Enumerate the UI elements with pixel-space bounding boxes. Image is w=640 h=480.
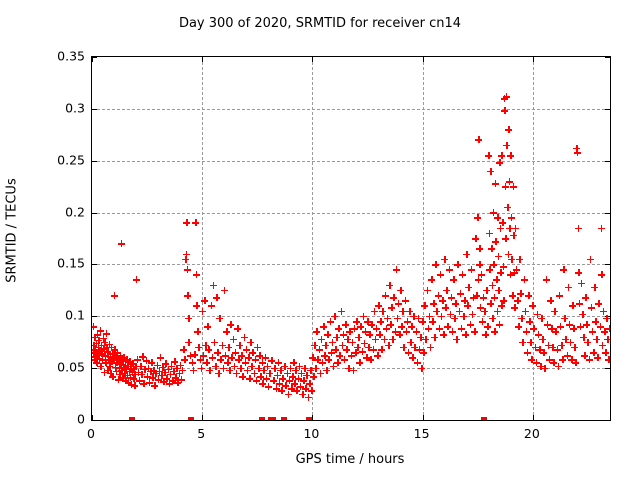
data-point <box>491 328 498 335</box>
data-point <box>487 300 494 307</box>
data-point <box>452 300 459 307</box>
data-point <box>228 354 235 361</box>
data-point <box>362 328 369 335</box>
data-point <box>314 356 321 363</box>
data-point <box>130 375 137 382</box>
data-point <box>268 357 275 364</box>
data-point <box>475 276 482 283</box>
data-point <box>193 271 200 278</box>
x-axis-tick <box>312 57 313 62</box>
data-point <box>388 304 395 311</box>
data-point <box>239 373 246 380</box>
data-point <box>92 349 97 356</box>
data-point <box>605 356 610 363</box>
data-point <box>183 219 190 226</box>
data-point <box>428 276 435 283</box>
x-axis-label: GPS time / hours <box>91 452 609 467</box>
data-point <box>399 308 406 315</box>
data-point <box>96 347 103 354</box>
data-point <box>163 375 170 382</box>
data-point <box>550 359 557 366</box>
x-axis-tick <box>92 57 93 62</box>
data-point <box>544 321 551 328</box>
x-axis-tick <box>533 57 534 62</box>
data-point <box>558 342 565 349</box>
data-point <box>414 359 421 366</box>
data-point <box>465 284 472 291</box>
gridline-vertical <box>312 57 313 420</box>
data-point <box>278 387 285 394</box>
data-point <box>576 300 583 307</box>
data-point <box>232 349 239 356</box>
data-point <box>456 308 463 315</box>
data-point <box>118 240 125 247</box>
data-point <box>392 328 399 335</box>
data-point <box>265 383 272 390</box>
data-point <box>405 349 412 356</box>
data-point <box>349 339 356 346</box>
data-point <box>485 152 492 159</box>
data-point <box>134 356 141 363</box>
data-point <box>184 266 191 273</box>
data-point <box>575 225 582 232</box>
data-point-zero <box>306 417 312 420</box>
data-point <box>249 349 256 356</box>
y-axis-tick <box>605 316 610 317</box>
data-point <box>492 238 499 245</box>
data-point <box>500 297 507 304</box>
y-axis-tick-label: 0.1 <box>39 308 85 323</box>
data-point <box>406 308 413 315</box>
data-point <box>583 321 590 328</box>
y-axis-tick-label: 0.05 <box>39 360 85 375</box>
data-point <box>582 294 589 301</box>
data-point <box>486 230 493 237</box>
data-point <box>487 168 494 175</box>
data-point <box>446 266 453 273</box>
data-point <box>256 352 263 359</box>
data-point <box>484 323 491 330</box>
data-point <box>546 356 553 363</box>
data-point <box>194 328 201 335</box>
x-axis-tick-labels: 05101520 <box>91 426 609 446</box>
data-point <box>259 380 266 387</box>
data-point <box>598 271 605 278</box>
y-axis-tick <box>605 213 610 214</box>
data-point <box>210 282 217 289</box>
data-point <box>128 381 135 388</box>
data-point <box>599 342 606 349</box>
data-point <box>136 377 143 384</box>
data-point <box>209 354 216 361</box>
y-axis-tick <box>605 368 610 369</box>
data-point <box>431 334 438 341</box>
data-point <box>288 385 295 392</box>
data-point <box>348 352 355 359</box>
y-axis-tick-label: 0.25 <box>39 152 85 167</box>
data-point <box>274 372 281 379</box>
x-axis-tick-label: 10 <box>289 426 333 441</box>
data-point <box>470 294 477 301</box>
data-point <box>494 214 501 221</box>
y-axis-tick <box>92 316 97 317</box>
data-point <box>502 235 509 242</box>
data-point <box>510 183 517 190</box>
data-point <box>143 357 150 364</box>
data-point <box>112 364 119 371</box>
data-point <box>341 356 348 363</box>
data-point <box>234 325 241 332</box>
data-point <box>597 323 604 330</box>
data-point <box>523 328 530 335</box>
data-point <box>291 380 298 387</box>
data-point <box>559 356 566 363</box>
data-point <box>254 344 261 351</box>
data-point <box>511 304 518 311</box>
data-point <box>149 374 156 381</box>
data-point <box>509 292 516 299</box>
data-point <box>396 331 403 338</box>
data-point <box>299 391 306 398</box>
data-point <box>325 356 332 363</box>
data-point <box>586 356 593 363</box>
gridline-vertical <box>533 57 534 420</box>
x-axis-tick <box>312 415 313 420</box>
data-point <box>373 325 380 332</box>
data-point <box>180 346 187 353</box>
data-point <box>338 308 345 315</box>
data-point <box>571 344 578 351</box>
data-point <box>554 346 561 353</box>
data-point <box>505 126 512 133</box>
data-point <box>496 321 503 328</box>
data-point <box>512 225 519 232</box>
data-point <box>305 394 312 401</box>
data-point <box>126 358 133 365</box>
data-point <box>588 304 595 311</box>
data-point <box>587 256 594 263</box>
data-point <box>155 376 162 383</box>
data-point <box>92 342 97 349</box>
data-point <box>510 232 517 239</box>
data-point <box>444 323 451 330</box>
data-point <box>318 336 325 343</box>
data-point <box>461 297 468 304</box>
data-point-zero <box>481 417 487 420</box>
data-point <box>112 354 119 361</box>
data-point <box>569 302 576 309</box>
data-point <box>279 375 286 382</box>
data-point <box>101 339 108 346</box>
data-point <box>100 345 107 352</box>
data-point <box>535 331 542 338</box>
data-point <box>238 352 245 359</box>
data-point <box>594 354 601 361</box>
data-point <box>130 366 137 373</box>
data-point <box>353 318 360 325</box>
data-point <box>166 380 173 387</box>
data-point <box>290 359 297 366</box>
data-point <box>108 358 115 365</box>
data-point <box>125 379 132 386</box>
plot-area <box>91 56 611 421</box>
data-point <box>425 325 432 332</box>
data-point <box>473 292 480 299</box>
data-point <box>575 269 582 276</box>
data-point <box>577 323 584 330</box>
data-point <box>344 336 351 343</box>
data-point <box>481 308 488 315</box>
data-point <box>107 370 114 377</box>
data-point <box>570 325 577 332</box>
data-point <box>376 331 383 338</box>
data-point <box>282 382 289 389</box>
data-point <box>377 318 384 325</box>
data-point <box>424 287 431 294</box>
data-point <box>591 284 598 291</box>
data-point <box>449 328 456 335</box>
data-point <box>528 356 535 363</box>
y-axis-tick-label: 0.3 <box>39 100 85 115</box>
data-point <box>320 323 327 330</box>
data-point <box>266 370 273 377</box>
data-point <box>185 339 192 346</box>
data-point <box>124 372 131 379</box>
data-point <box>499 219 506 226</box>
data-point <box>339 342 346 349</box>
data-point <box>356 359 363 366</box>
data-point <box>453 336 460 343</box>
data-point <box>357 323 364 330</box>
data-point <box>187 352 194 359</box>
data-point <box>433 308 440 315</box>
data-point <box>494 308 501 315</box>
data-point <box>116 371 123 378</box>
data-point <box>467 321 474 328</box>
data-point <box>355 334 362 341</box>
y-axis-tick-label: 0.2 <box>39 204 85 219</box>
data-point <box>573 145 580 152</box>
data-point <box>141 366 148 373</box>
data-point <box>92 323 97 330</box>
data-point <box>477 304 484 311</box>
data-point <box>385 342 392 349</box>
data-point <box>482 331 489 338</box>
data-point <box>200 352 207 359</box>
data-point <box>167 371 174 378</box>
data-point <box>564 352 571 359</box>
data-point <box>604 336 610 343</box>
data-point <box>138 371 145 378</box>
x-axis-tick-label: 0 <box>69 426 113 441</box>
data-point <box>386 282 393 289</box>
data-point <box>511 269 518 276</box>
data-point <box>135 369 142 376</box>
data-point <box>342 321 349 328</box>
data-point <box>504 204 511 211</box>
data-point <box>505 251 512 258</box>
data-point <box>193 302 200 309</box>
data-point <box>519 339 526 346</box>
data-point <box>172 374 179 381</box>
data-point <box>174 379 181 386</box>
data-point <box>459 271 466 278</box>
data-point <box>297 383 304 390</box>
data-point <box>352 349 359 356</box>
data-point <box>378 346 385 353</box>
data-point <box>472 235 479 242</box>
data-point <box>506 225 513 232</box>
data-point <box>522 308 529 315</box>
data-point <box>160 378 167 385</box>
data-point <box>120 354 127 361</box>
data-point <box>111 346 118 353</box>
data-point <box>335 325 342 332</box>
data-point <box>251 370 258 377</box>
data-point <box>359 348 366 355</box>
data-point <box>286 377 293 384</box>
data-point <box>516 256 523 263</box>
data-point <box>440 331 447 338</box>
data-point <box>262 354 269 361</box>
data-point <box>317 370 324 377</box>
data-point <box>230 336 237 343</box>
data-point <box>103 344 110 351</box>
data-point <box>580 334 587 341</box>
data-point <box>319 359 326 366</box>
data-point <box>389 336 396 343</box>
y-axis-tick <box>92 264 97 265</box>
data-point <box>521 276 528 283</box>
data-point <box>497 269 504 276</box>
data-point <box>293 387 300 394</box>
x-axis-tick-label: 5 <box>179 426 223 441</box>
data-point <box>503 142 510 149</box>
data-point <box>435 292 442 299</box>
data-point <box>192 219 199 226</box>
data-point <box>606 325 610 332</box>
data-point <box>151 382 158 389</box>
data-point <box>182 256 189 263</box>
data-point <box>92 346 99 353</box>
data-point <box>364 318 371 325</box>
data-point <box>464 302 471 309</box>
data-point <box>224 359 231 366</box>
data-point <box>289 373 296 380</box>
data-point <box>351 325 358 332</box>
data-point <box>110 355 117 362</box>
data-point <box>94 351 101 358</box>
x-axis-tick <box>423 57 424 62</box>
data-point <box>429 318 436 325</box>
data-point <box>129 369 136 376</box>
data-point <box>222 352 229 359</box>
data-point <box>513 266 520 273</box>
data-point <box>507 271 514 278</box>
data-point <box>95 337 102 344</box>
data-point <box>119 357 126 364</box>
data-point <box>332 346 339 353</box>
x-axis-tick <box>533 415 534 420</box>
data-point <box>300 377 307 384</box>
data-point <box>109 373 116 380</box>
data-point <box>503 93 510 100</box>
data-point <box>104 348 111 355</box>
data-point <box>284 370 291 377</box>
data-point <box>140 380 147 387</box>
data-point <box>409 354 416 361</box>
data-point <box>543 276 550 283</box>
data-point <box>219 342 226 349</box>
data-point <box>354 344 361 351</box>
data-point <box>536 346 543 353</box>
data-point <box>165 366 172 373</box>
data-point <box>98 350 105 357</box>
data-point <box>420 349 427 356</box>
data-point-zero <box>270 417 276 420</box>
data-point <box>324 331 331 338</box>
data-point <box>122 377 129 384</box>
y-axis-label-wrapper: SRMTID / TECUs <box>0 56 24 419</box>
data-point <box>93 340 100 347</box>
data-point <box>602 349 609 356</box>
y-axis-tick-labels: 00.050.10.150.20.250.30.35 <box>33 56 85 419</box>
y-axis-tick <box>605 57 610 58</box>
data-point <box>276 380 283 387</box>
data-point <box>393 266 400 273</box>
data-point <box>557 323 564 330</box>
data-point <box>502 183 509 190</box>
data-point <box>397 287 404 294</box>
y-axis-tick <box>605 109 610 110</box>
data-point <box>109 350 116 357</box>
data-point <box>495 287 502 294</box>
data-point <box>402 297 409 304</box>
data-point <box>506 178 513 185</box>
data-point <box>556 292 563 299</box>
data-point <box>562 336 569 343</box>
data-point <box>480 294 487 301</box>
data-point <box>552 328 559 335</box>
data-point <box>203 359 210 366</box>
data-point <box>383 325 390 332</box>
data-point <box>94 331 101 338</box>
data-point <box>92 334 98 341</box>
data-point <box>158 372 165 379</box>
data-point <box>488 245 495 252</box>
data-point <box>115 376 122 383</box>
data-point <box>592 318 599 325</box>
data-point <box>365 344 372 351</box>
data-point <box>382 292 389 299</box>
data-point <box>123 356 130 363</box>
data-point <box>233 370 240 377</box>
data-point <box>478 271 485 278</box>
data-point <box>191 351 198 358</box>
data-point <box>93 359 100 366</box>
data-point <box>329 339 336 346</box>
data-point <box>102 352 109 359</box>
y-axis-label: SRMTID / TECUs <box>5 69 20 393</box>
data-point <box>489 282 496 289</box>
data-point <box>227 321 234 328</box>
data-point <box>102 359 109 366</box>
data-point <box>508 256 515 263</box>
data-point <box>253 377 260 384</box>
data-point <box>539 336 546 343</box>
data-point <box>476 245 483 252</box>
data-point <box>403 328 410 335</box>
